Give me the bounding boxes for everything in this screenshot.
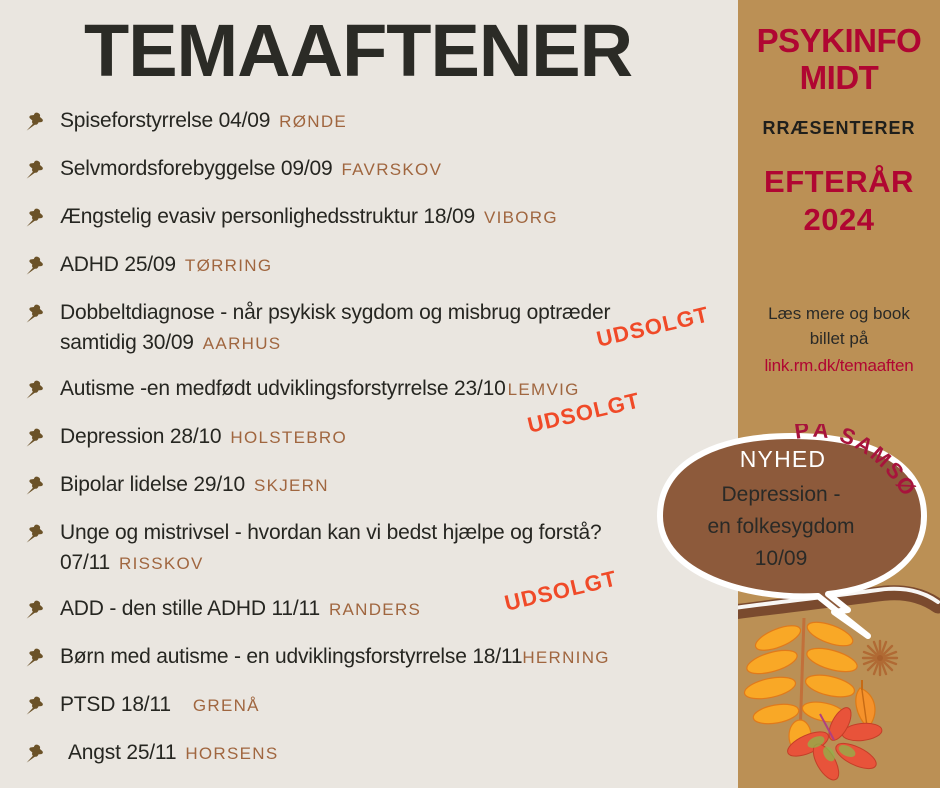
pushpin-icon [22, 474, 48, 500]
list-item[interactable]: Spiseforstyrrelse 04/09RØNDE [22, 106, 738, 139]
event-text: Børn med autisme - en udviklingsforstyrr… [60, 642, 610, 673]
event-title: ADHD 25/09 [60, 253, 176, 276]
list-item[interactable]: Unge og mistrivsel - hvordan kan vi beds… [22, 518, 738, 579]
booking-link[interactable]: link.rm.dk/temaaften [752, 353, 926, 379]
booking-line-2: billet på [752, 326, 926, 351]
poster-canvas: PSYKINFO MIDT RRÆSENTERER EFTERÅR 2024 L… [0, 0, 940, 788]
event-city: GRENÅ [193, 696, 260, 715]
pushpin-icon [22, 522, 48, 548]
event-text: Depression 28/10HOLSTEBRO [60, 422, 347, 453]
event-city: TØRRING [185, 256, 272, 275]
pushpin-icon [22, 254, 48, 280]
pushpin-icon [22, 694, 48, 720]
event-text: Bipolar lidelse 29/10SKJERN [60, 470, 329, 501]
presents-label: RRÆSENTERER [738, 118, 940, 139]
list-item[interactable]: Børn med autisme - en udviklingsforstyrr… [22, 642, 738, 675]
event-text: Dobbeltdiagnose - når psykisk sygdom og … [60, 298, 660, 359]
pushpin-icon [22, 598, 48, 624]
event-text: Unge og mistrivsel - hvordan kan vi beds… [60, 518, 630, 579]
pushpin-icon [22, 742, 48, 768]
brand-name: PSYKINFO MIDT [738, 22, 940, 96]
list-item[interactable]: Ængstelig evasiv personlighedsstruktur 1… [22, 202, 738, 235]
seed-star-icon [863, 641, 897, 675]
event-title: PTSD 18/11 [60, 693, 171, 716]
list-item[interactable]: Bipolar lidelse 29/10SKJERN [22, 470, 738, 503]
event-title: Ængstelig evasiv personlighedsstruktur 1… [60, 205, 475, 228]
brand-line-1: PSYKINFO [738, 22, 940, 59]
event-text: Autisme -en medfødt udviklingsforstyrrel… [60, 374, 580, 405]
list-item[interactable]: Angst 25/11HORSENS [22, 738, 738, 771]
event-list: Spiseforstyrrelse 04/09RØNDE Selvmordsfo… [22, 106, 738, 786]
orange-leaf-icon [856, 680, 875, 728]
season-line-2: 2024 [738, 201, 940, 239]
event-title: Selvmordsforebyggelse 09/09 [60, 157, 332, 180]
event-city: LEMVIG [508, 380, 580, 399]
brand-line-2: MIDT [738, 59, 940, 96]
pushpin-icon [22, 206, 48, 232]
list-item[interactable]: Selvmordsforebyggelse 09/09FAVRSKOV [22, 154, 738, 187]
event-city: AARHUS [203, 334, 282, 353]
event-title: Autisme -en medfødt udviklingsforstyrrel… [60, 377, 506, 400]
event-text: Ængstelig evasiv personlighedsstruktur 1… [60, 202, 558, 233]
pushpin-icon [22, 110, 48, 136]
pushpin-icon [22, 426, 48, 452]
event-city: HERNING [522, 648, 610, 667]
event-text: PTSD 18/11GRENÅ [60, 690, 260, 721]
list-item[interactable]: PTSD 18/11GRENÅ [22, 690, 738, 723]
booking-info: Læs mere og book billet på link.rm.dk/te… [738, 301, 940, 379]
season-line-1: EFTERÅR [738, 163, 940, 201]
event-city: RØNDE [279, 112, 347, 131]
event-city: HOLSTEBRO [230, 428, 347, 447]
pushpin-icon [22, 302, 48, 328]
event-title: Børn med autisme - en udviklingsforstyrr… [60, 645, 522, 668]
event-title: Depression 28/10 [60, 425, 221, 448]
event-title: ADD - den stille ADHD 11/11 [60, 597, 320, 620]
event-city: FAVRSKOV [341, 160, 442, 179]
pushpin-icon [22, 378, 48, 404]
creeper-leaf-icon [784, 704, 883, 783]
pushpin-icon [22, 158, 48, 184]
news-speech-bubble[interactable]: NYHED Depression - en folkesygdom 10/09 [652, 424, 940, 639]
event-title: Spiseforstyrrelse 04/09 [60, 109, 270, 132]
event-city: VIBORG [484, 208, 558, 227]
page-title: TEMAAFTENER [84, 8, 632, 93]
list-item[interactable]: ADD - den stille ADHD 11/11RANDERS [22, 594, 738, 627]
event-title: Angst 25/11 [68, 741, 176, 764]
list-item[interactable]: ADHD 25/09TØRRING [22, 250, 738, 283]
event-text: Spiseforstyrrelse 04/09RØNDE [60, 106, 347, 137]
event-city: RANDERS [329, 600, 421, 619]
event-title: Dobbeltdiagnose - når psykisk sygdom og … [60, 301, 610, 354]
booking-line-1: Læs mere og book [752, 301, 926, 326]
event-text: ADHD 25/09TØRRING [60, 250, 272, 281]
pushpin-icon [22, 646, 48, 672]
list-item[interactable]: Depression 28/10HOLSTEBRO [22, 422, 738, 455]
sidebar: PSYKINFO MIDT RRÆSENTERER EFTERÅR 2024 L… [738, 0, 940, 788]
event-city: HORSENS [185, 744, 278, 763]
event-city: SKJERN [254, 476, 329, 495]
event-text: Selvmordsforebyggelse 09/09FAVRSKOV [60, 154, 442, 185]
event-text: ADD - den stille ADHD 11/11RANDERS [60, 594, 421, 625]
season-heading: EFTERÅR 2024 [738, 163, 940, 239]
event-text: Angst 25/11HORSENS [68, 738, 279, 769]
event-title: Bipolar lidelse 29/10 [60, 473, 245, 496]
event-city: RISSKOV [119, 554, 204, 573]
